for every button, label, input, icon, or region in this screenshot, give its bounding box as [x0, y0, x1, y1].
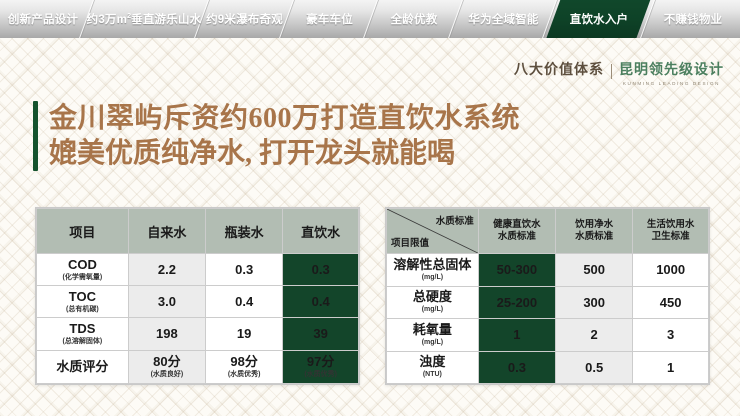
headline-accent-bar	[33, 101, 38, 171]
nav-tab-label: 全龄优教	[391, 11, 438, 27]
corner-label-standard: 水质标准	[436, 213, 474, 227]
cell-turbidity-domestic: 1	[633, 351, 709, 384]
cell-tds-direct: 39	[283, 318, 359, 350]
cell-hardness-healthy: 25-200	[478, 286, 555, 319]
table-row: 浊度 (NTU) 0.3 0.5 1	[387, 351, 709, 384]
nav-tab-label: 华为全域智能	[468, 11, 538, 27]
cell-score-tap: 80分 (水质良好)	[128, 350, 205, 383]
column-header-purified-drinking: 饮用净水 水质标准	[556, 209, 633, 254]
table-row: 水质评分 80分 (水质良好) 98分 (水质优秀) 97分 (水质优秀)	[37, 350, 359, 383]
row-label-sub: (总有机碳)	[37, 305, 128, 314]
brand-sub-title: 昆明领先级设计	[619, 62, 724, 79]
brand-latin-tagline: KUNMING LEADING DESIGN	[623, 80, 720, 87]
nav-tab-haoche-chewei[interactable]: 豪车车位	[289, 0, 370, 38]
cell-tds-healthy: 50-300	[478, 254, 555, 287]
nav-tab-label: 豪车车位	[306, 11, 353, 27]
table-header-row: 项目 自来水 瓶装水 直饮水	[37, 209, 359, 254]
cell-toc-tap: 3.0	[128, 286, 205, 318]
water-comparison-table: 项目 自来水 瓶装水 直饮水 COD (化学需氧量) 2.2 0.3 0.3	[35, 207, 360, 385]
brand-divider	[611, 64, 612, 79]
cell-tds-tap: 198	[128, 318, 205, 350]
cell-score-note: (水质良好)	[129, 370, 205, 379]
column-header-line-1: 生活饮用水	[647, 219, 695, 230]
table-row: 耗氧量 (mg/L) 1 2 3	[387, 319, 709, 352]
nav-tab-huawei-quanyu-zhineng[interactable]: 华为全域智能	[458, 0, 549, 38]
row-label-main: 总硬度	[413, 289, 452, 304]
table-row: 溶解性总固体 (mg/L) 50-300 500 1000	[387, 254, 709, 287]
nav-tab-label: 创新产品设计	[8, 11, 78, 27]
nav-tab-quanling-youjiao[interactable]: 全龄优教	[373, 0, 455, 38]
nav-tab-buzhuanqian-wuye[interactable]: 不赚钱物业	[650, 0, 736, 38]
headline-line-1: 金川翠屿斥资约600万打造直饮水系统	[49, 101, 520, 136]
row-label-cod: COD (化学需氧量)	[37, 254, 129, 286]
row-label-unit: (mg/L)	[387, 305, 478, 314]
cell-cod-bottled: 0.3	[206, 254, 283, 286]
nav-tab-label: 直饮水入户	[570, 11, 629, 27]
cell-score-bottled: 98分 (水质优秀)	[206, 350, 283, 383]
cell-oxygen-purified: 2	[556, 319, 633, 352]
column-header-tap-water: 自来水	[128, 209, 205, 254]
headline-line-2: 媲美优质纯净水, 打开龙头就能喝	[49, 136, 520, 171]
brand-secondary-block: 昆明领先级设计 KUNMING LEADING DESIGN	[619, 62, 724, 87]
table-left-grid: 项目 自来水 瓶装水 直饮水 COD (化学需氧量) 2.2 0.3 0.3	[36, 208, 359, 384]
headline-block: 金川翠屿斥资约600万打造直饮水系统 媲美优质纯净水, 打开龙头就能喝	[33, 101, 520, 171]
row-label-unit: (NTU)	[387, 370, 478, 379]
brand-main-title: 八大价值体系	[514, 62, 604, 80]
row-label-hardness: 总硬度 (mg/L)	[387, 286, 479, 319]
row-label-tds-dissolved: 溶解性总固体 (mg/L)	[387, 254, 479, 287]
column-header-domestic-drinking: 生活饮用水 卫生标准	[633, 209, 709, 254]
water-standards-table: 水质标准 项目限值 健康直饮水 水质标准 饮用净水 水质标准 生活饮用水 卫生标…	[385, 207, 710, 385]
cell-tds-bottled: 19	[206, 318, 283, 350]
corner-label-limit: 项目限值	[391, 235, 429, 249]
cell-toc-bottled: 0.4	[206, 286, 283, 318]
cell-cod-direct: 0.3	[283, 254, 359, 286]
top-navigation-bar: 创新产品设计 约3万m2垂直游乐山水 约9米瀑布奇观 豪车车位 全龄优教 华为全…	[0, 0, 740, 38]
cell-score-direct: 97分 (水质优秀)	[283, 350, 359, 383]
cell-hardness-purified: 300	[556, 286, 633, 319]
page-title: 金川翠屿斥资约600万打造直饮水系统 媲美优质纯净水, 打开龙头就能喝	[49, 101, 520, 171]
nav-tab-chuizhi-youle-shanshui[interactable]: 约3万m2垂直游乐山水	[88, 0, 200, 38]
cell-toc-direct: 0.4	[283, 286, 359, 318]
cell-turbidity-healthy: 0.3	[478, 351, 555, 384]
table-row: 总硬度 (mg/L) 25-200 300 450	[387, 286, 709, 319]
row-label-main: 浊度	[419, 354, 445, 369]
column-header-direct-drinking-water: 直饮水	[283, 209, 359, 254]
nav-tab-label: 不赚钱物业	[664, 11, 723, 27]
slide-root: 创新产品设计 约3万m2垂直游乐山水 约9米瀑布奇观 豪车车位 全龄优教 华为全…	[0, 0, 740, 416]
row-label-unit: (mg/L)	[387, 338, 478, 347]
row-label-sub: (化学需氧量)	[37, 273, 128, 282]
cell-oxygen-healthy: 1	[478, 319, 555, 352]
row-label-unit: (mg/L)	[387, 273, 478, 282]
column-header-line-2: 水质标准	[498, 231, 536, 242]
row-label-sub: (总溶解固体)	[37, 337, 128, 346]
row-label-toc: TOC (总有机碳)	[37, 286, 129, 318]
cell-score-value: 97分	[307, 354, 334, 369]
row-label-main: 水质评分	[56, 359, 108, 374]
column-header-line-1: 饮用净水	[575, 219, 613, 230]
brand-lockup: 八大价值体系 昆明领先级设计 KUNMING LEADING DESIGN	[514, 62, 724, 87]
nav-tab-label: 约9米瀑布奇观	[206, 11, 283, 27]
row-label-main: TDS	[69, 321, 95, 336]
nav-tab-label: 约3万m2垂直游乐山水	[87, 11, 202, 27]
cell-tds-domestic: 1000	[633, 254, 709, 287]
cell-tds-purified: 500	[556, 254, 633, 287]
column-header-healthy-direct-drinking: 健康直饮水 水质标准	[478, 209, 555, 254]
row-label-main: 溶解性总固体	[393, 257, 471, 272]
nav-tab-zhiyinshui-ruhu[interactable]: 直饮水入户	[555, 0, 643, 38]
row-label-score: 水质评分	[37, 350, 129, 383]
cell-score-value: 80分	[153, 354, 180, 369]
table-header-row: 水质标准 项目限值 健康直饮水 水质标准 饮用净水 水质标准 生活饮用水 卫生标…	[387, 209, 709, 254]
column-header-line-2: 水质标准	[575, 231, 613, 242]
cell-score-value: 98分	[230, 354, 257, 369]
row-label-main: 耗氧量	[413, 322, 452, 337]
cell-turbidity-purified: 0.5	[556, 351, 633, 384]
nav-tab-pubu-qiguan[interactable]: 约9米瀑布奇观	[203, 0, 286, 38]
column-header-line-1: 健康直饮水	[493, 219, 541, 230]
row-label-tds: TDS (总溶解固体)	[37, 318, 129, 350]
cell-hardness-domestic: 450	[633, 286, 709, 319]
cell-cod-tap: 2.2	[128, 254, 205, 286]
table-row: TDS (总溶解固体) 198 19 39	[37, 318, 359, 350]
cell-oxygen-domestic: 3	[633, 319, 709, 352]
row-label-turbidity: 浊度 (NTU)	[387, 351, 479, 384]
cell-score-note: (水质优秀)	[206, 370, 282, 379]
column-header-bottled-water: 瓶装水	[206, 209, 283, 254]
column-header-item: 项目	[37, 209, 129, 254]
row-label-oxygen-consumption: 耗氧量 (mg/L)	[387, 319, 479, 352]
table-row: TOC (总有机碳) 3.0 0.4 0.4	[37, 286, 359, 318]
row-label-main: TOC	[69, 289, 96, 304]
table-row: COD (化学需氧量) 2.2 0.3 0.3	[37, 254, 359, 286]
nav-tab-chuangxin-chanpin-sheji[interactable]: 创新产品设计	[0, 0, 86, 38]
corner-header-cell: 水质标准 项目限值	[387, 209, 479, 254]
table-right-grid: 水质标准 项目限值 健康直饮水 水质标准 饮用净水 水质标准 生活饮用水 卫生标…	[386, 208, 709, 384]
row-label-main: COD	[68, 257, 97, 272]
cell-score-note: (水质优秀)	[283, 370, 358, 379]
column-header-line-2: 卫生标准	[652, 231, 690, 242]
